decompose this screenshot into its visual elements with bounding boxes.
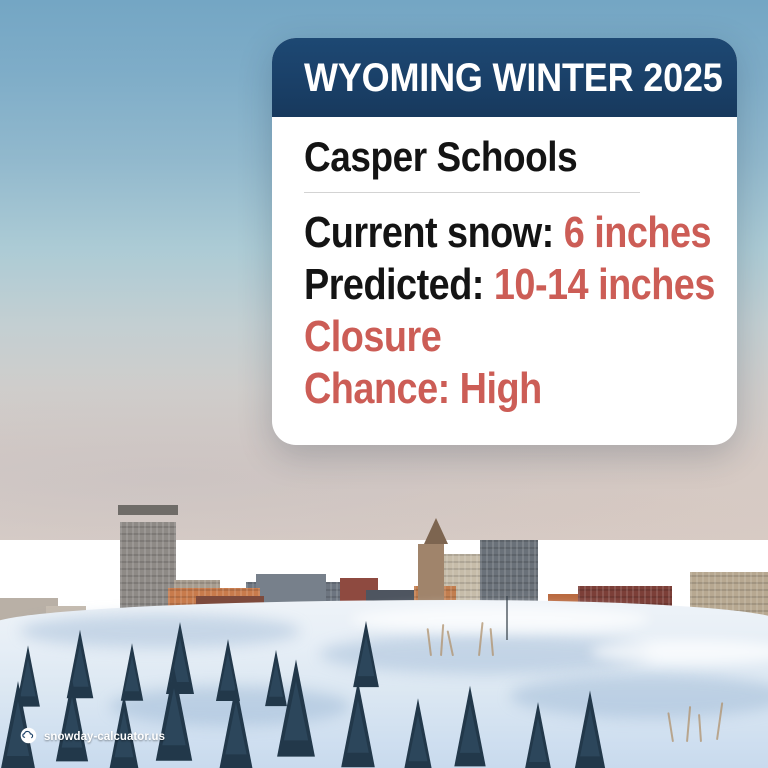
conifer-tree bbox=[403, 698, 432, 768]
poster-canvas: WYOMING WINTER 2025 Casper Schools Curre… bbox=[0, 0, 768, 768]
info-card: WYOMING WINTER 2025 Casper Schools Curre… bbox=[272, 38, 737, 445]
conifer-tree bbox=[524, 702, 552, 768]
stat-label-current-snow: Current snow: bbox=[304, 208, 564, 257]
conifer-tree bbox=[121, 643, 143, 701]
stat-row-closure: Closure bbox=[304, 311, 706, 363]
school-name: Casper Schools bbox=[304, 133, 659, 180]
stat-value-closure-chance: Chance: High bbox=[304, 364, 542, 413]
building bbox=[118, 505, 178, 515]
divider bbox=[304, 192, 640, 193]
stat-value-current-snow: 6 inches bbox=[564, 208, 711, 257]
stat-label-predicted: Predicted: bbox=[304, 260, 494, 309]
stat-value-closure: Closure bbox=[304, 312, 441, 361]
conifer-tree bbox=[56, 679, 88, 762]
conifer-tree bbox=[277, 659, 315, 756]
conifer-tree bbox=[341, 681, 375, 767]
card-header: WYOMING WINTER 2025 bbox=[272, 38, 737, 117]
stats-list: Current snow: 6 inches Predicted: 10-14 … bbox=[304, 207, 706, 415]
watermark-text: snowday-calcuator.us bbox=[44, 729, 165, 743]
conifer-tree bbox=[219, 684, 252, 768]
stat-value-predicted: 10-14 inches bbox=[494, 260, 715, 309]
conifer-tree bbox=[156, 667, 192, 761]
conifer-tree bbox=[575, 690, 606, 768]
conifer-tree bbox=[353, 621, 379, 687]
watermark: snowday-calcuator.us bbox=[20, 727, 171, 744]
utility-pole bbox=[506, 596, 508, 640]
conifer-tree bbox=[454, 686, 485, 767]
card-body: Casper Schools Current snow: 6 inches Pr… bbox=[272, 117, 737, 445]
spire bbox=[424, 518, 448, 544]
stat-row-closure-chance: Chance: High bbox=[304, 363, 706, 415]
page-title: WYOMING WINTER 2025 bbox=[304, 58, 667, 98]
conifer-tree bbox=[1, 681, 36, 768]
stat-row-current-snow: Current snow: 6 inches bbox=[304, 207, 706, 259]
snow-cloud-icon bbox=[20, 727, 37, 744]
stat-row-predicted: Predicted: 10-14 inches bbox=[304, 259, 706, 311]
